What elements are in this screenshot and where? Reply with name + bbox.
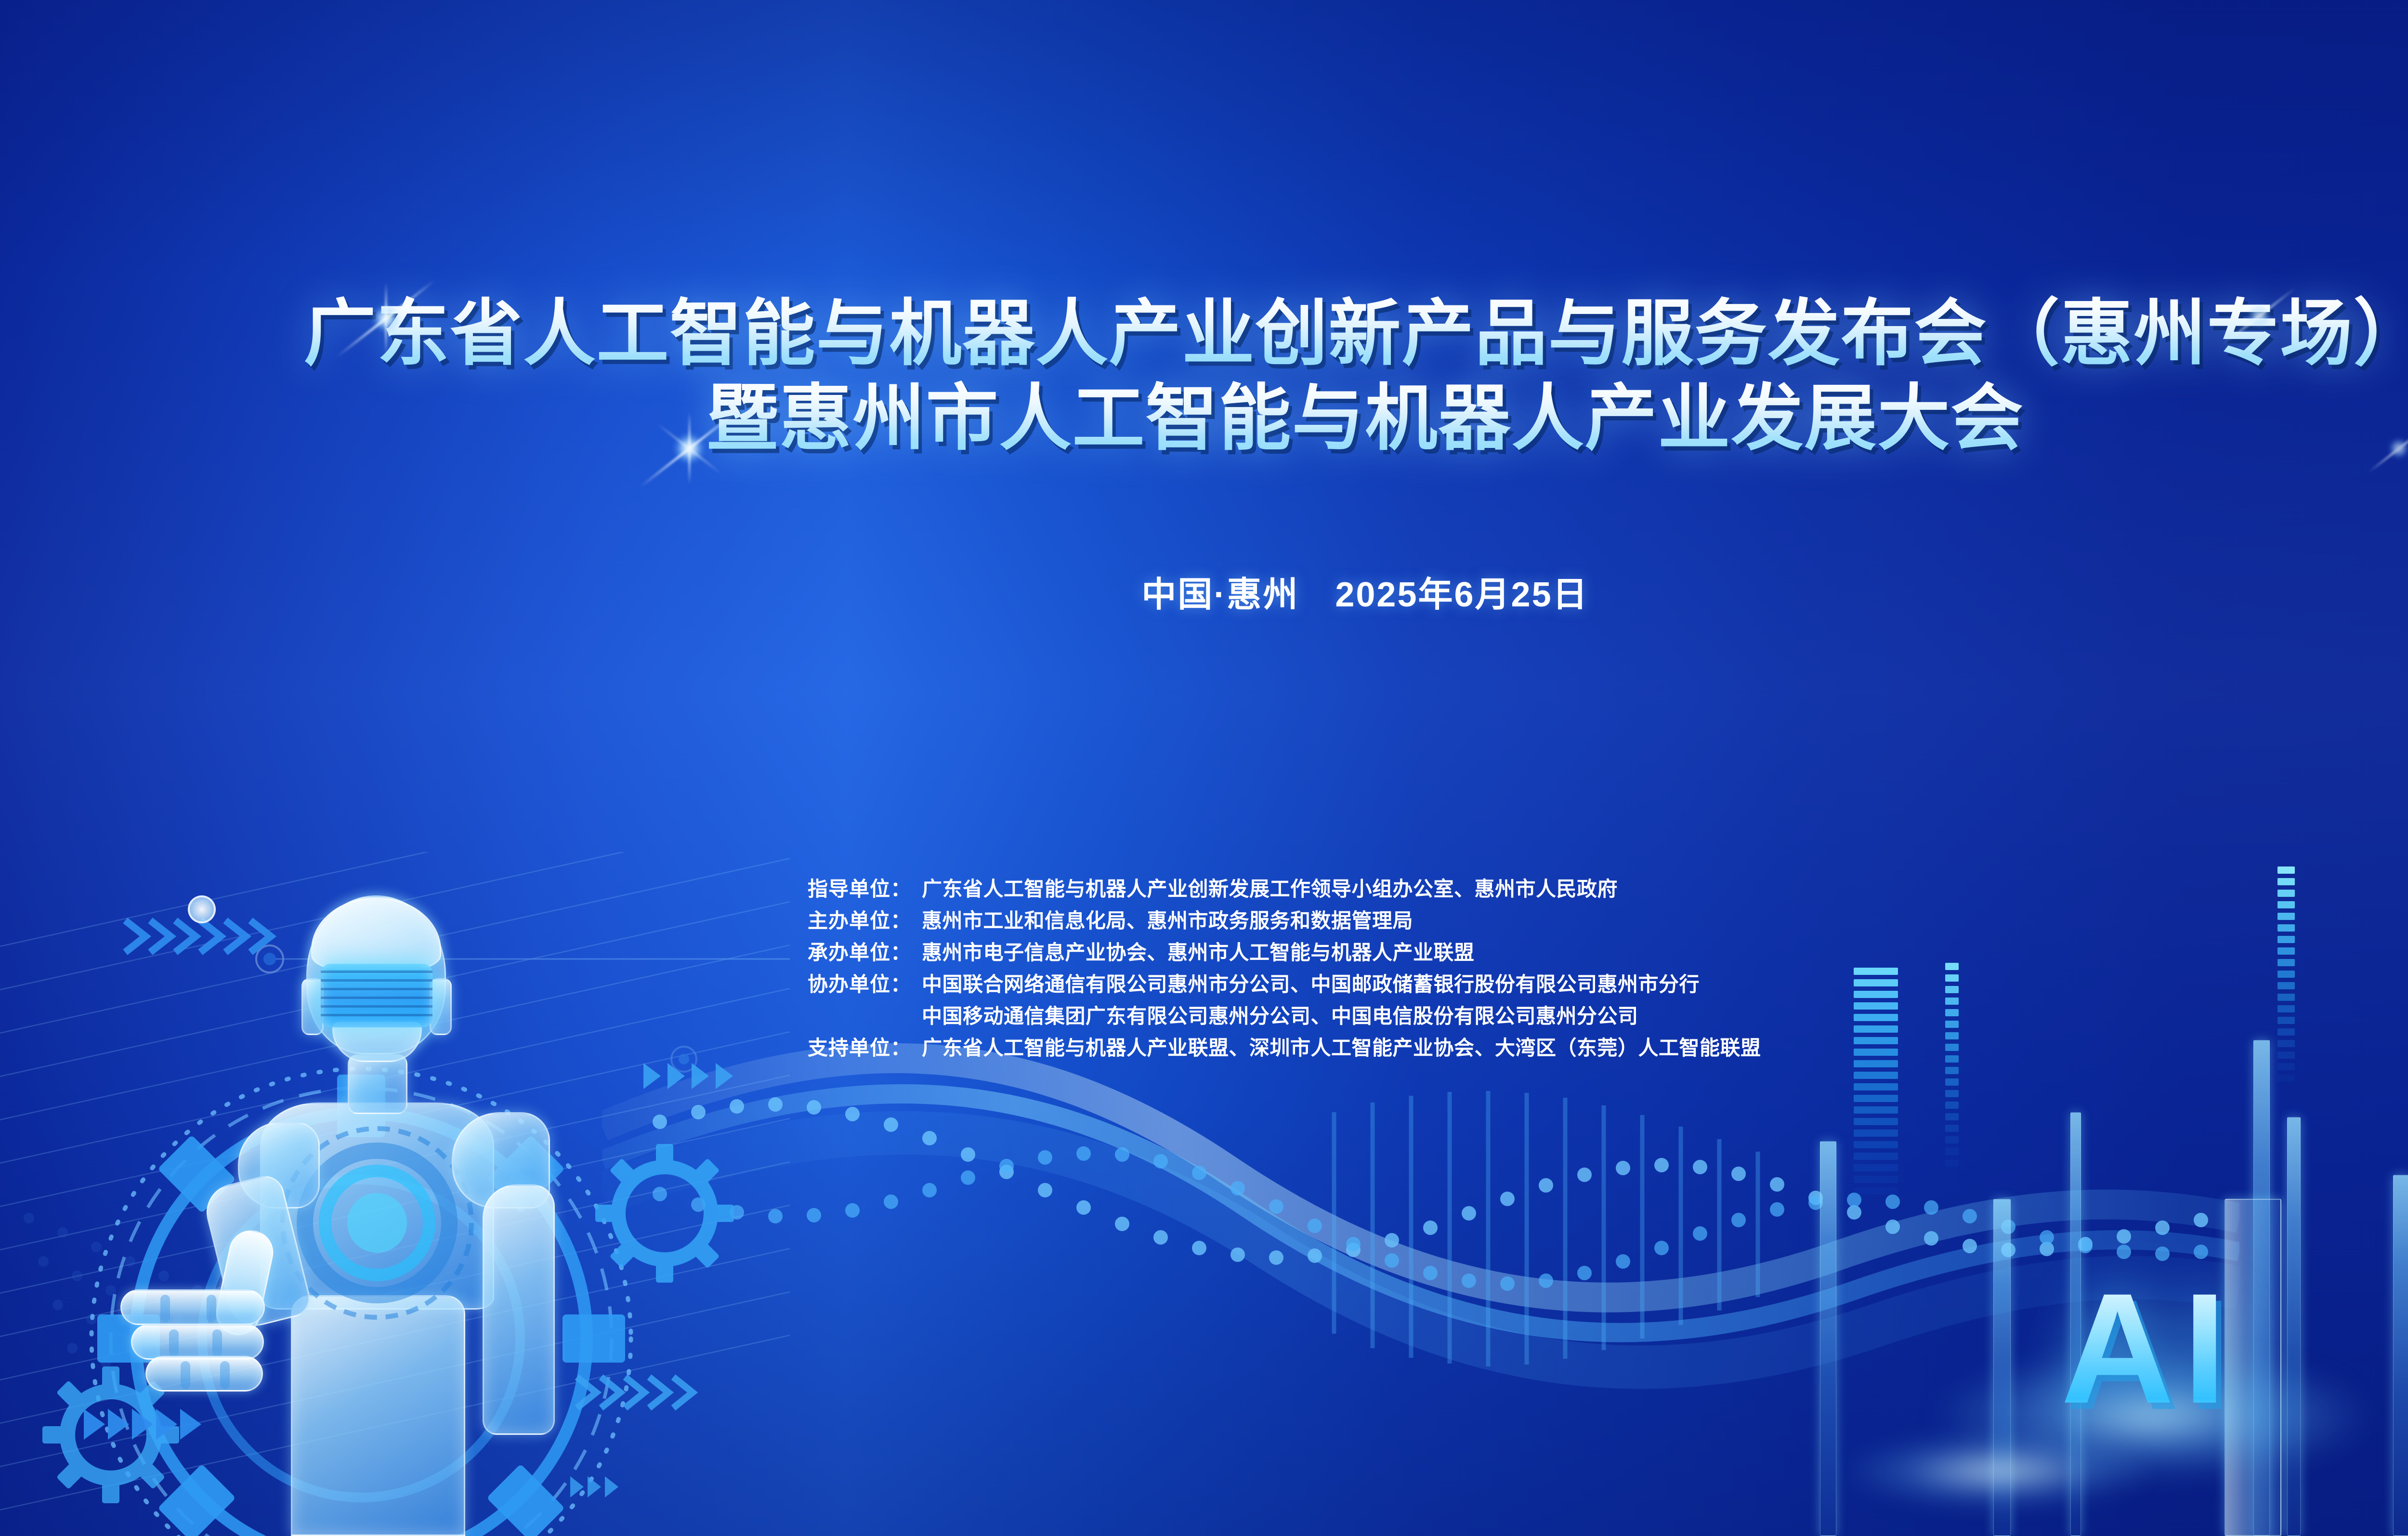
ai-graphic-scene: AI	[1791, 862, 2408, 1536]
credit-label: 协办单位：	[785, 974, 911, 995]
light-bloom	[1849, 1435, 2147, 1507]
title-block: 广东省人工智能与机器人产业创新产品与服务发布会（惠州专场） 暨惠州市人工智能与机…	[0, 293, 2408, 459]
gear-icon	[592, 1141, 737, 1286]
title-line-1: 广东省人工智能与机器人产业创新产品与服务发布会（惠州专场）	[0, 293, 2408, 375]
credit-value: 惠州市电子信息产业协会、惠州市人工智能与机器人产业联盟	[922, 943, 1475, 963]
credit-row: 支持单位：广东省人工智能与机器人产业联盟、深圳市人工智能产业协会、大湾区（东莞）…	[785, 1038, 1761, 1058]
credit-label: 指导单位：	[785, 879, 911, 899]
credit-row: 指导单位：广东省人工智能与机器人产业创新发展工作领导小组办公室、惠州市人民政府	[785, 879, 1761, 899]
organizer-credits: 指导单位：广东省人工智能与机器人产业创新发展工作领导小组办公室、惠州市人民政府主…	[785, 879, 1761, 1058]
credit-row: 协办单位：中国联合网络通信有限公司惠州市分公司、中国邮政储蓄银行股份有限公司惠州…	[785, 974, 1761, 995]
chevron-arrow-icon	[568, 1473, 641, 1500]
robot-finger	[145, 1356, 263, 1392]
robot-jaw	[332, 1022, 422, 1062]
segmented-bar-icon	[2277, 866, 2295, 1348]
credit-label: 承办单位：	[785, 943, 911, 963]
robot-scene	[0, 852, 790, 1536]
robot-visor-display	[321, 964, 432, 1027]
title-line-2: 暨惠州市人工智能与机器人产业发展大会	[0, 378, 2408, 459]
robot-ear-right	[430, 978, 452, 1035]
robot-skull-cap	[311, 897, 441, 970]
credit-row: 主办单位：惠州市工业和信息化局、惠州市政务服务和数据管理局	[785, 911, 1761, 931]
segmented-bar-icon	[1945, 963, 1959, 1382]
vertical-bar-icon	[2393, 1175, 2408, 1536]
vertical-bar-icon	[1820, 1141, 1836, 1536]
robot-head-sensor	[188, 895, 216, 923]
ai-wordmark: AI	[2061, 1270, 2235, 1427]
chevron-arrow-icon	[641, 1059, 751, 1093]
humanoid-robot-figure	[188, 895, 563, 1536]
credit-label: 主办单位：	[785, 911, 911, 931]
robot-finger	[120, 1289, 265, 1325]
credit-row: 协办单位：中国移动通信集团广东有限公司惠州分公司、中国电信股份有限公司惠州分公司	[785, 1006, 1761, 1026]
robot-arm-right	[483, 1184, 555, 1435]
credit-value: 广东省人工智能与机器人产业联盟、深圳市人工智能产业协会、大湾区（东莞）人工智能联…	[922, 1038, 1761, 1058]
chevron-arrow-icon	[573, 1372, 708, 1413]
credit-value: 广东省人工智能与机器人产业创新发展工作领导小组办公室、惠州市人民政府	[922, 879, 1618, 899]
robot-hand	[120, 1233, 327, 1392]
segmented-bar-icon	[1854, 968, 1898, 1449]
credit-value: 惠州市工业和信息化局、惠州市政务服务和数据管理局	[922, 911, 1413, 931]
robot-neck	[348, 1054, 407, 1114]
credit-label: 支持单位：	[785, 1038, 911, 1058]
robot-finger	[131, 1324, 264, 1360]
conference-banner: AI 广东省人工智能与机器人产业创新产品与服务发布会（惠州专场） 暨惠州市人工智…	[0, 0, 2408, 1536]
credit-value: 中国联合网络通信有限公司惠州市分公司、中国邮政储蓄银行股份有限公司惠州市分行	[922, 974, 1700, 995]
credit-row: 承办单位：惠州市电子信息产业协会、惠州市人工智能与机器人产业联盟	[785, 943, 1761, 963]
subtitle-location-date: 中国·惠州 2025年6月25日	[0, 566, 2408, 617]
credit-value: 中国移动通信集团广东有限公司惠州分公司、中国电信股份有限公司惠州分公司	[922, 1006, 1638, 1026]
